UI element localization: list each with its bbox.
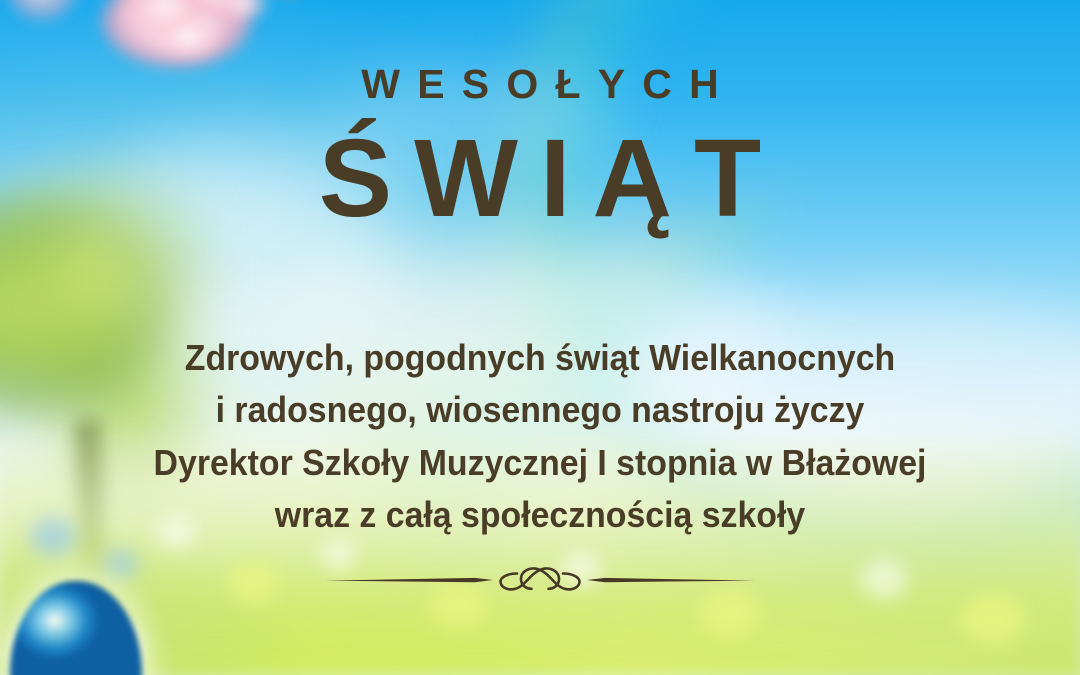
heading-line-wesolych: WESOŁYCH [0,64,1080,105]
message-line: Zdrowych, pogodnych świąt Wielkanocnych [32,332,1047,384]
flourish-divider-icon [325,563,755,597]
greeting-heading: WESOŁYCH ŚWIĄT [0,64,1080,240]
heading-line-swiat: ŚWIĄT [0,117,1080,240]
greeting-message: Zdrowych, pogodnych świąt Wielkanocnych … [32,332,1047,541]
message-line: Dyrektor Szkoły Muzycznej I stopnia w Bł… [32,437,1047,489]
message-line: i radosnego, wiosennego nastroju życzy [32,384,1047,436]
card-content: WESOŁYCH ŚWIĄT Zdrowych, pogodnych świąt… [0,0,1080,675]
message-line: wraz z całą społecznością szkoły [32,489,1047,541]
easter-greeting-card: WESOŁYCH ŚWIĄT Zdrowych, pogodnych świąt… [0,0,1080,675]
